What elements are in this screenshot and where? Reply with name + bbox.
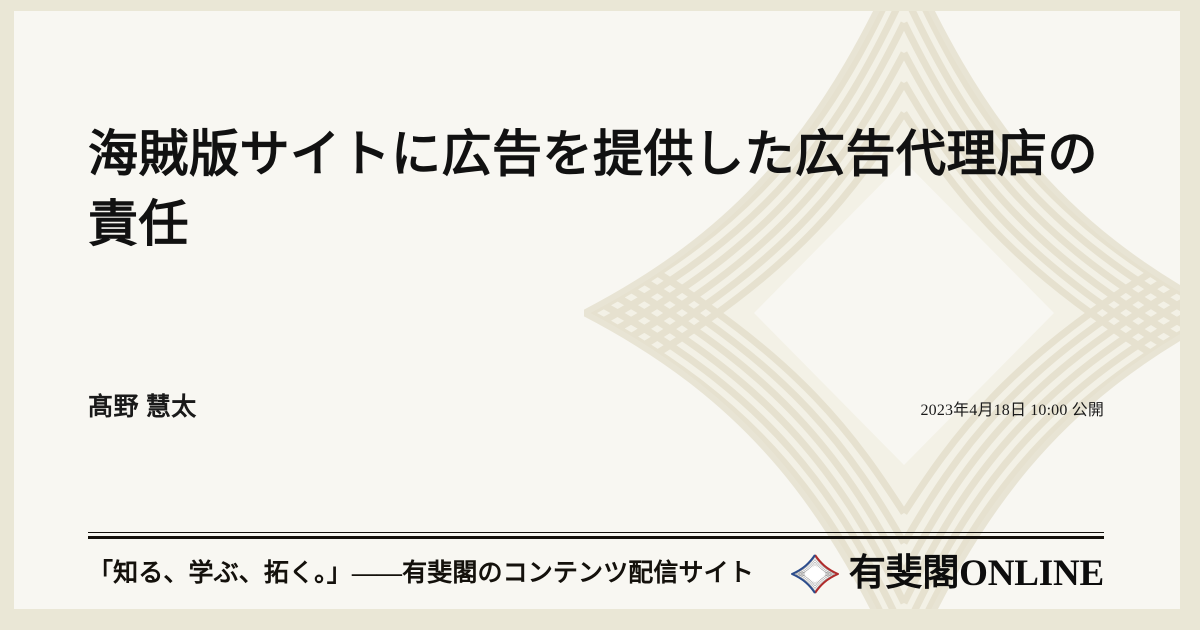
page-title: 海賊版サイトに広告を提供した広告代理店の責任 xyxy=(88,119,1104,259)
brand-lockup: 有斐閣ONLINE xyxy=(791,554,1104,594)
divider-rule-thick xyxy=(88,536,1104,539)
footer-divider xyxy=(88,532,1104,539)
article-meta: 髙野 慧太 2023年4月18日 10:00 公開 xyxy=(88,393,1104,423)
yuhikaku-diamond-emblem-icon xyxy=(791,554,839,594)
card-footer: 「知る、学ぶ、拓く。」——有斐閣のコンテンツ配信サイト xyxy=(88,551,1104,597)
og-card: 海賊版サイトに広告を提供した広告代理店の責任 髙野 慧太 2023年4月18日 … xyxy=(14,11,1180,609)
brand-name: 有斐閣ONLINE xyxy=(849,554,1104,594)
card-content: 海賊版サイトに広告を提供した広告代理店の責任 髙野 慧太 2023年4月18日 … xyxy=(88,11,1106,609)
author-name: 髙野 慧太 xyxy=(88,393,197,423)
publish-date: 2023年4月18日 10:00 公開 xyxy=(921,401,1105,421)
site-tagline: 「知る、学ぶ、拓く。」——有斐閣のコンテンツ配信サイト xyxy=(88,557,754,591)
divider-rule-thin xyxy=(88,532,1104,533)
